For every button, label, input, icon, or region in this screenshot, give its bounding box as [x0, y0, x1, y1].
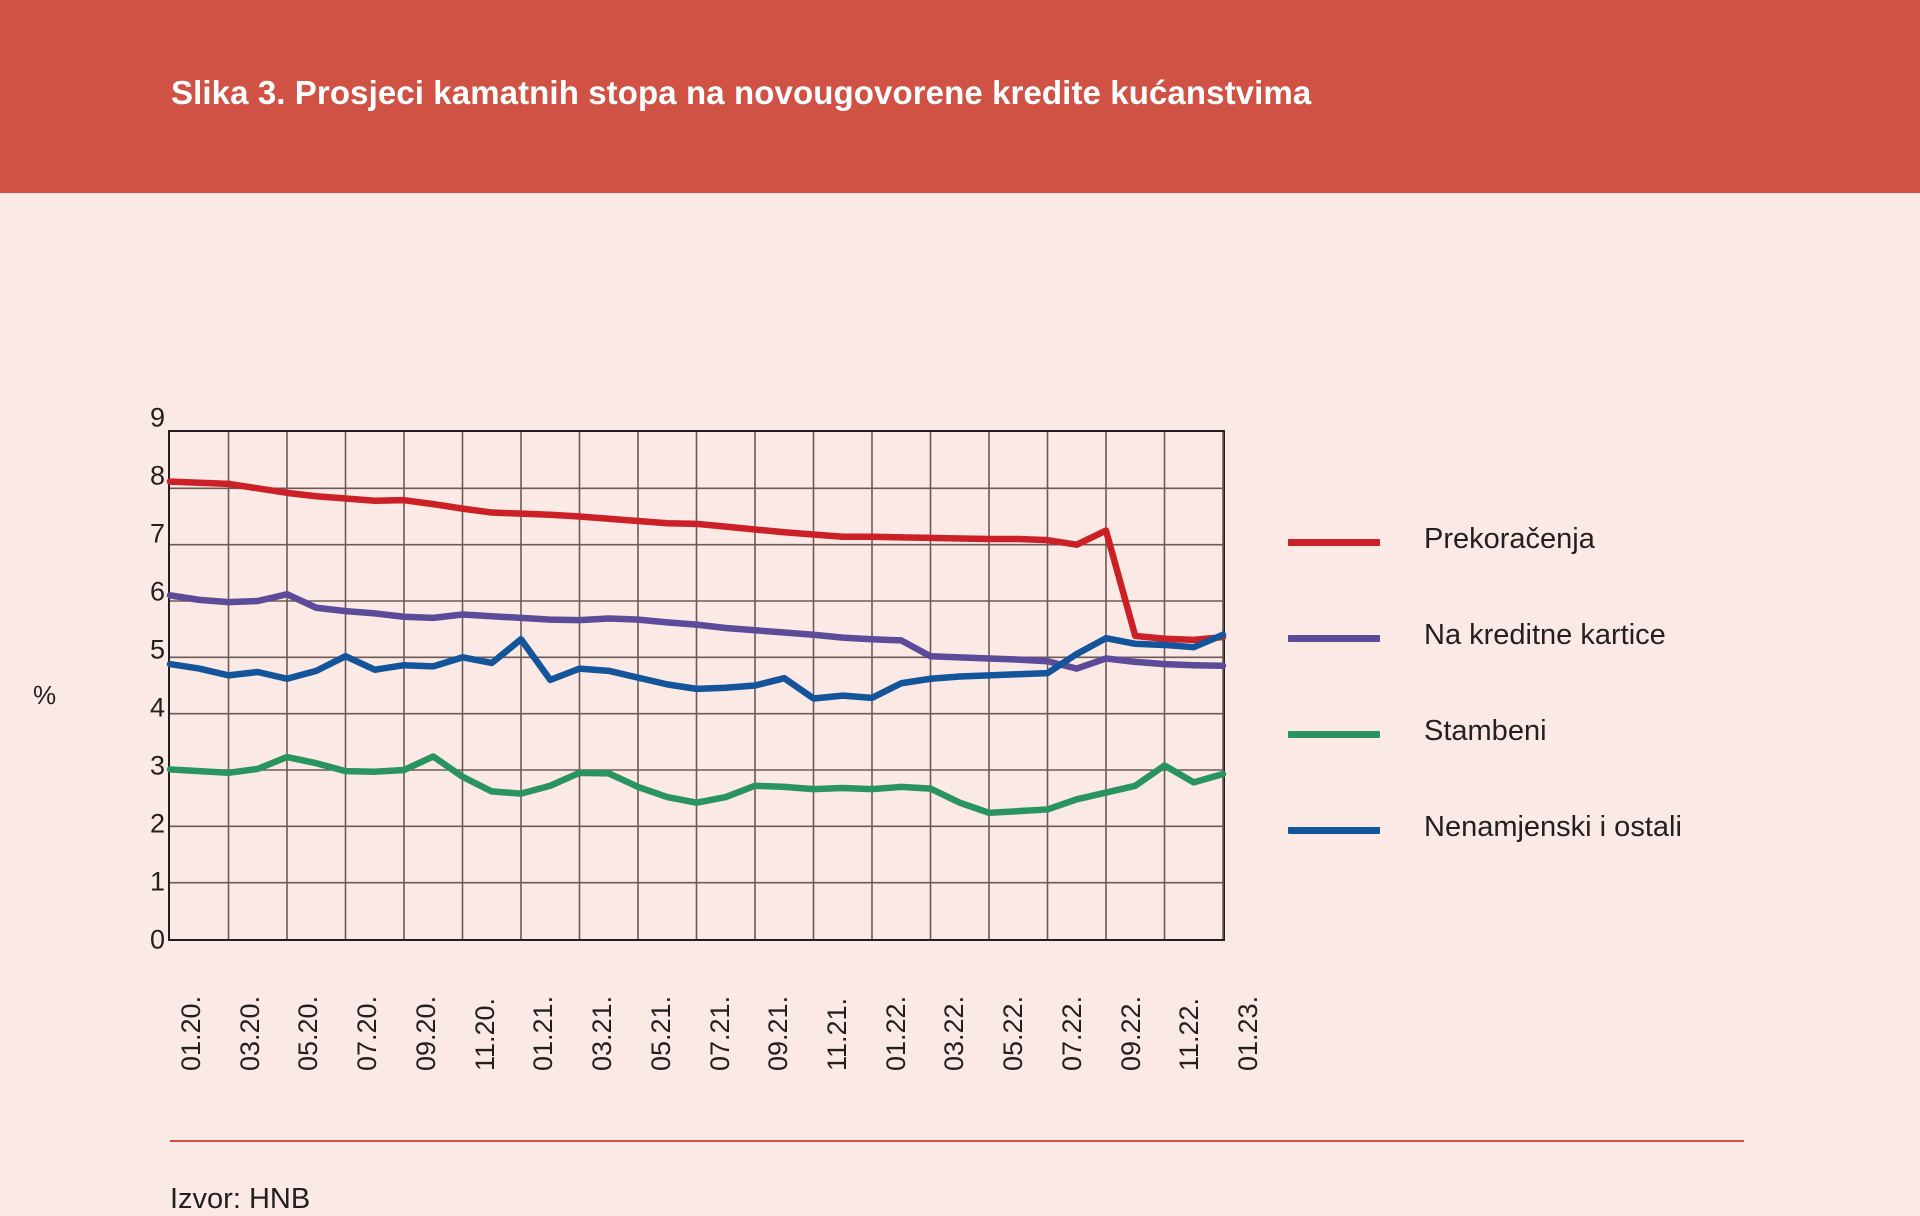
- legend-item-prekora-enja[interactable]: Prekoračenja: [1288, 523, 1768, 619]
- source-note: Izvor: HNB: [170, 1183, 310, 1216]
- legend-swatch-icon: [1288, 827, 1380, 834]
- y-tick-0: 0: [150, 927, 165, 954]
- x-tick-0722: 07.22.: [1059, 996, 1086, 1071]
- legend-item-label: Prekoračenja: [1424, 523, 1595, 556]
- x-tick-0121: 01.21.: [530, 996, 557, 1071]
- x-tick-0520: 05.20.: [295, 996, 322, 1071]
- legend-swatch-icon: [1288, 731, 1380, 738]
- legend-item-label: Nenamjenski i ostali: [1424, 811, 1682, 844]
- x-tick-1120: 11.20.: [472, 998, 499, 1071]
- x-tick-0321: 03.21.: [589, 996, 616, 1071]
- legend-item-label: Stambeni: [1424, 715, 1547, 748]
- x-tick-0922: 09.22.: [1118, 996, 1145, 1071]
- title-banner: Slika 3. Prosjeci kamatnih stopa na novo…: [0, 0, 1920, 193]
- y-tick-4: 4: [150, 695, 165, 722]
- y-tick-7: 7: [150, 521, 165, 548]
- x-tick-0521: 05.21.: [648, 996, 675, 1071]
- legend-swatch-icon: [1288, 539, 1380, 546]
- chart-lines: [170, 432, 1223, 939]
- y-tick-5: 5: [150, 637, 165, 664]
- legend-swatch-icon: [1288, 635, 1380, 642]
- y-tick-6: 6: [150, 579, 165, 606]
- figure-area: % 9876543210 01.20.03.20.05.20.07.20.09.…: [0, 193, 1920, 1080]
- x-tick-0921: 09.21.: [765, 996, 792, 1071]
- footer-divider: [170, 1140, 1744, 1142]
- chart-legend: PrekoračenjaNa kreditne karticeStambeniN…: [1288, 523, 1768, 907]
- y-axis-label: %: [33, 680, 56, 711]
- x-tick-0721: 07.21.: [707, 996, 734, 1071]
- plot-area: [168, 430, 1225, 941]
- y-tick-1: 1: [150, 869, 165, 896]
- y-tick-9: 9: [150, 405, 165, 432]
- x-tick-0322: 03.22.: [941, 996, 968, 1071]
- x-tick-0123: 01.23.: [1235, 996, 1262, 1071]
- y-axis-tick-labels: 9876543210: [105, 418, 165, 940]
- y-tick-2: 2: [150, 811, 165, 838]
- page-title: Slika 3. Prosjeci kamatnih stopa na novo…: [171, 74, 1311, 112]
- legend-item-label: Na kreditne kartice: [1424, 619, 1666, 652]
- legend-item-nenamjenski-i-ostali[interactable]: Nenamjenski i ostali: [1288, 811, 1768, 907]
- y-tick-3: 3: [150, 753, 165, 780]
- x-tick-0122: 01.22.: [883, 996, 910, 1071]
- x-tick-0522: 05.22.: [1000, 996, 1027, 1071]
- x-tick-0720: 07.20.: [354, 996, 381, 1071]
- x-tick-1121: 11.21.: [824, 998, 851, 1071]
- y-tick-8: 8: [150, 463, 165, 490]
- legend-item-na-kreditne-kartice[interactable]: Na kreditne kartice: [1288, 619, 1768, 715]
- x-tick-0920: 09.20.: [413, 996, 440, 1071]
- x-axis-tick-labels: 01.20.03.20.05.20.07.20.09.20.11.20.01.2…: [168, 953, 1225, 1083]
- x-tick-1122: 11.22.: [1176, 998, 1203, 1071]
- x-tick-0320: 03.20.: [237, 996, 264, 1071]
- legend-item-stambeni[interactable]: Stambeni: [1288, 715, 1768, 811]
- x-tick-0120: 01.20.: [178, 996, 205, 1071]
